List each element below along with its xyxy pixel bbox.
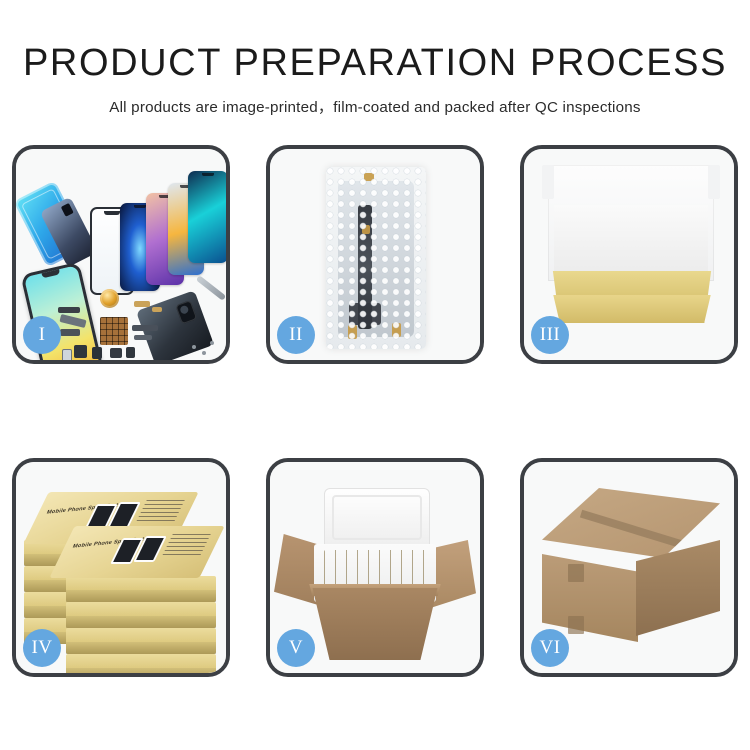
step-badge-1: I [23,316,61,354]
part-gold-contact-icon [152,307,162,312]
part-connector-icon [58,307,80,313]
product-preparation-infographic: PRODUCT PREPARATION PROCESS All products… [0,0,750,750]
step-badge-2: II [277,316,315,354]
foam-lid-icon [324,488,430,550]
retail-box-top-front: Mobile Phone Spare Parts [49,526,224,578]
step-badge-3: III [531,316,569,354]
carton-tape-icon [568,564,584,582]
carton-left-face-icon [542,554,638,642]
kraft-box-front-icon [550,295,714,323]
part-gold-flex-icon [134,301,150,307]
part-sim-tray-icon [62,349,72,360]
part-chip-c-icon [110,348,122,358]
speaker-coil-icon [100,289,119,308]
part-chip-b-icon [92,347,102,359]
part-ribbon-icon [134,335,152,340]
process-step-6: VI [520,458,738,677]
process-step-1: I [12,145,230,364]
process-step-2: II [266,145,484,364]
step-badge-5: V [277,629,315,667]
process-step-grid: I II [12,145,738,677]
part-bracket-icon [60,329,80,336]
stacked-box-edge [66,628,216,654]
process-step-4: Mobile Phone Spare Parts Mobile Phone Sp… [12,458,230,677]
page-subtitle: All products are image-printed，film-coat… [0,84,750,117]
step-badge-4: IV [23,629,61,667]
part-chip-a-icon [74,345,87,358]
screw-icon [202,351,206,355]
camera-module-icon [175,300,197,324]
screw-icon [192,345,196,349]
box-spec-text-block [162,534,211,556]
part-chip-d-icon [126,347,135,358]
process-step-5: V [266,458,484,677]
phone-screen-teal-icon [188,171,226,263]
stacked-box-edge [66,602,216,628]
box-spec-text-block [136,500,185,522]
screw-icon [210,341,214,345]
bubble-wrap-bag-icon [326,167,426,349]
carton-tape-icon [568,616,584,634]
step-badge-6: VI [531,629,569,667]
logic-board-chip-icon [100,317,128,345]
foam-sheet-icon [554,205,708,273]
carton-body-icon [304,588,446,660]
process-step-3: III [520,145,738,364]
stacked-box-edge [66,576,216,602]
header: PRODUCT PREPARATION PROCESS All products… [0,0,750,117]
bubble-texture-icon [326,167,426,349]
stacked-box-edge [66,654,216,673]
page-title: PRODUCT PREPARATION PROCESS [0,0,750,84]
part-flex-cable-icon [132,325,158,331]
tweezer-tool-icon [196,275,226,301]
